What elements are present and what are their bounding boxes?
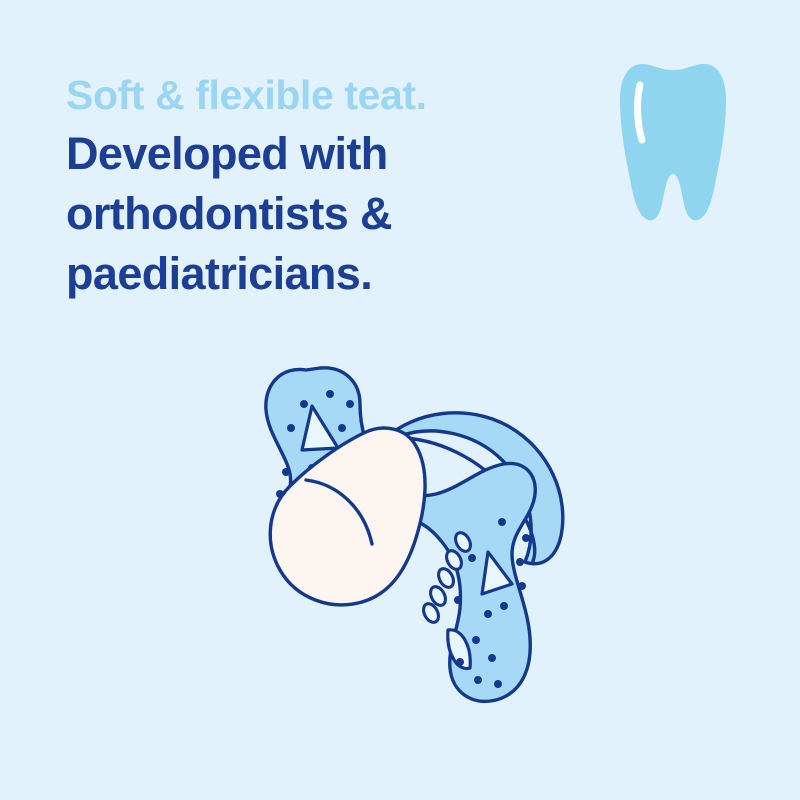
copy-block: Soft & flexible teat. Developed with ort… bbox=[66, 72, 586, 304]
headline-line-1: Developed with bbox=[66, 124, 586, 184]
page-title: Developed with orthodontists & paediatri… bbox=[66, 124, 586, 304]
headline-line-2: orthodontists & bbox=[66, 184, 586, 244]
promo-panel: Soft & flexible teat. Developed with ort… bbox=[0, 0, 800, 800]
eyebrow-text: Soft & flexible teat. bbox=[66, 72, 586, 120]
headline-line-3: paediatricians. bbox=[66, 244, 586, 304]
tooth-icon bbox=[620, 62, 726, 224]
pacifier-illustration bbox=[220, 362, 590, 762]
